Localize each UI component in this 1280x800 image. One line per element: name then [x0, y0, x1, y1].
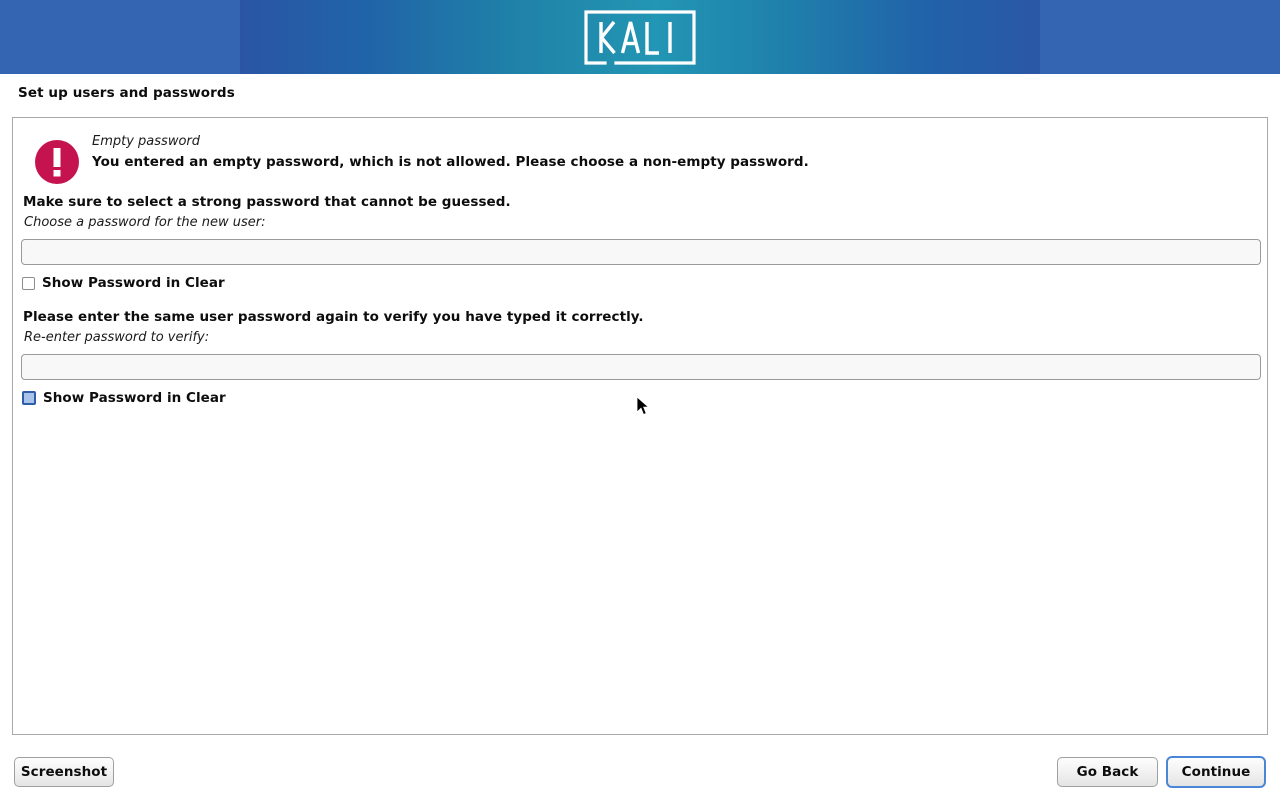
password-field-label: Choose a password for the new user:: [24, 215, 266, 230]
show-verify-password-checkbox-label: Show Password in Clear: [43, 390, 226, 406]
show-password-checkbox-label: Show Password in Clear: [42, 275, 225, 291]
show-verify-password-checkbox-row[interactable]: Show Password in Clear: [22, 390, 226, 406]
screenshot-button[interactable]: Screenshot: [14, 757, 114, 787]
show-verify-password-checkbox[interactable]: [22, 391, 36, 405]
show-password-checkbox-row[interactable]: Show Password in Clear: [22, 275, 225, 291]
page-title: Set up users and passwords: [18, 85, 235, 101]
installer-banner: [0, 0, 1280, 74]
error-text-group: Empty password You entered an empty pass…: [92, 133, 809, 172]
continue-button[interactable]: Continue: [1166, 756, 1266, 788]
go-back-button[interactable]: Go Back: [1057, 757, 1158, 787]
kali-logo: [583, 9, 697, 66]
show-password-checkbox[interactable]: [22, 277, 35, 290]
password-strength-heading: Make sure to select a strong password th…: [23, 194, 511, 210]
verify-password-input[interactable]: [21, 354, 1261, 380]
error-exclamation-icon: [34, 139, 80, 185]
error-message-block: Empty password You entered an empty pass…: [23, 128, 1259, 188]
installer-content-panel: Empty password You entered an empty pass…: [12, 117, 1268, 735]
error-title: Empty password: [92, 133, 809, 150]
password-input[interactable]: [21, 239, 1261, 265]
verify-password-heading: Please enter the same user password agai…: [23, 309, 644, 325]
error-description: You entered an empty password, which is …: [92, 152, 809, 172]
verify-field-label: Re-enter password to verify:: [24, 330, 209, 345]
